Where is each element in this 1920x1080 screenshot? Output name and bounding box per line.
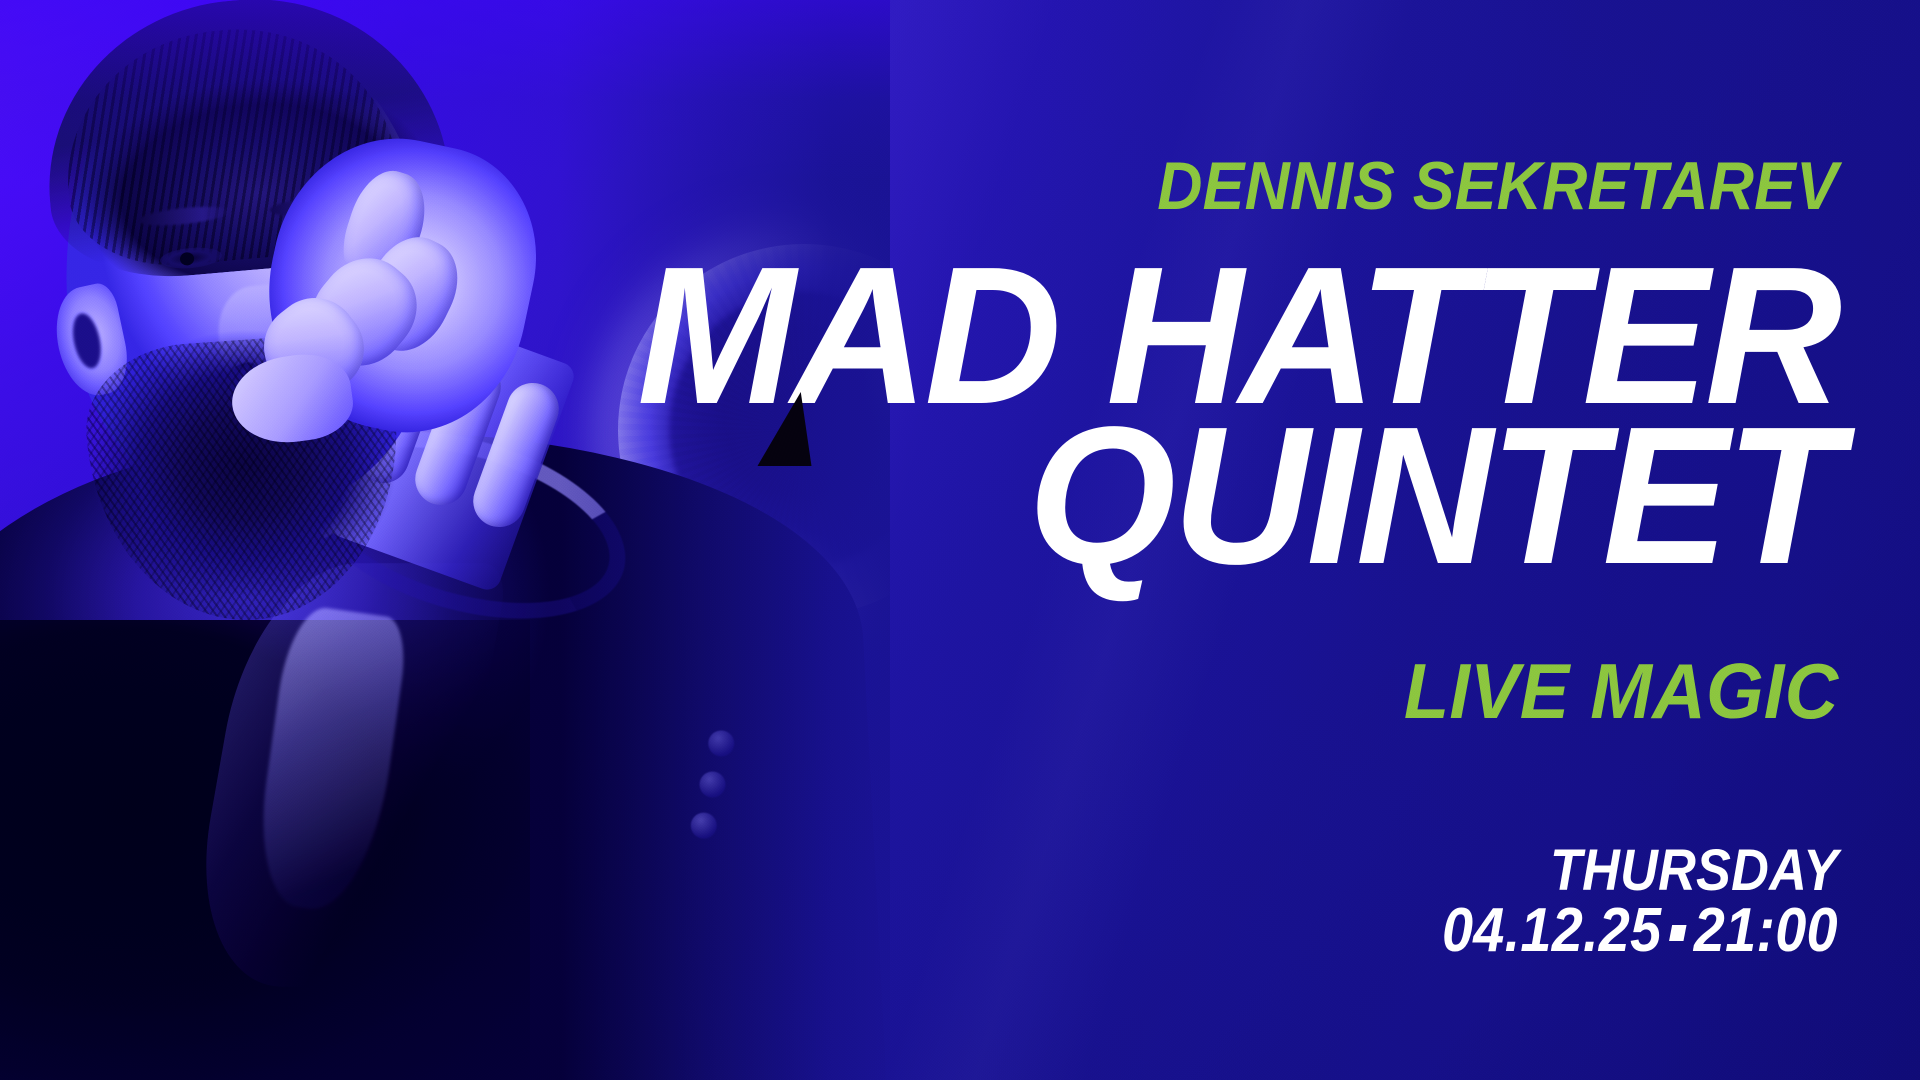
tagline: LIVE MAGIC [1404, 652, 1838, 730]
event-date: 04.12.25 [1442, 896, 1661, 965]
artist-name: DENNIS SEKRETAREV [1157, 152, 1838, 220]
band-name-line-2: QUINTET [1028, 406, 1838, 586]
separator-square-icon [1669, 925, 1687, 941]
concert-poster: DENNIS SEKRETAREV MAD HATTER QUINTET LIV… [0, 0, 1920, 1080]
poster-text-block: DENNIS SEKRETAREV MAD HATTER QUINTET LIV… [0, 0, 1920, 1080]
event-day-of-week: THURSDAY [1550, 842, 1838, 900]
event-time: 21:00 [1694, 896, 1838, 965]
event-date-time: 04.12.2521:00 [1442, 900, 1838, 962]
